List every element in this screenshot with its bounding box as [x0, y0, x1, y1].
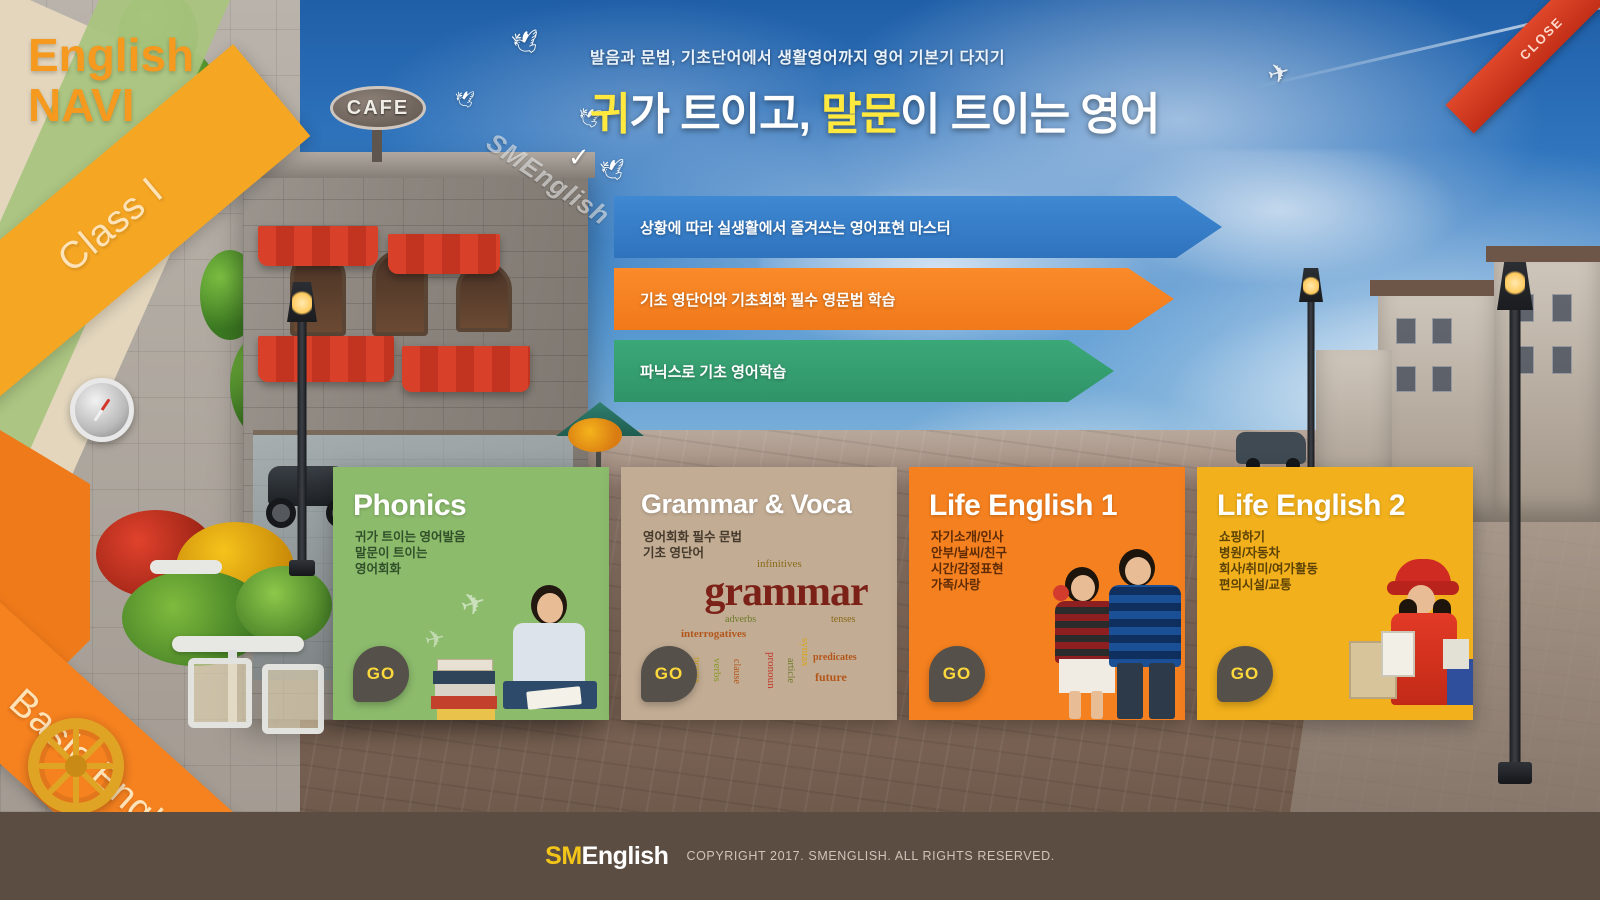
compass-icon [70, 378, 134, 442]
cafe-awning [402, 346, 530, 392]
page-title: 귀가 트이고, 말문이 트이는 영어 [590, 78, 1159, 142]
course-card-list: Phonics 귀가 트이는 영어발음 말문이 트이는 영어회화 ✈ ✈ GO [333, 467, 1473, 720]
lamp-base [1498, 762, 1532, 784]
street-lamp [282, 282, 322, 582]
cafe-awning [258, 226, 378, 266]
course-card-life-english-2-go-button[interactable]: GO [1217, 646, 1273, 702]
person-face [537, 593, 563, 623]
arrow-banner-2[interactable]: 기초 영단어와 기초회화 필수 영문법 학습 [614, 268, 1174, 330]
book-stack [431, 696, 497, 709]
street-lamp [1492, 262, 1538, 792]
course-card-phonics-title: Phonics [353, 489, 466, 523]
course-card-grammar[interactable]: Grammar & Voca 영어회화 필수 문법 기초 영단어 infinit… [621, 467, 897, 720]
go-label: GO [367, 664, 395, 684]
shopper-illustration [1347, 559, 1473, 720]
arrow-banner-3-label: 파닉스로 기초 영어학습 [614, 361, 786, 382]
arrow-banner-3[interactable]: 파닉스로 기초 영어학습 [614, 340, 1114, 402]
word-cloud-right-top: tenses [831, 615, 855, 625]
brand-line-2: NAVI [28, 80, 194, 130]
course-card-phonics-go-button[interactable]: GO [353, 646, 409, 702]
cafe-awning [388, 234, 500, 274]
person-striped-top [1109, 585, 1181, 667]
ribbon-class-1-label: Class I [50, 169, 172, 281]
course-card-life-english-1-title: Life English 1 [929, 489, 1117, 523]
patio-table [172, 636, 304, 652]
lamp-pole [1308, 302, 1315, 486]
course-card-life-english-2-title: Life English 2 [1217, 489, 1405, 523]
course-card-life-english-2-desc: 쇼핑하기 병원/자동차 회사/취미/여가활동 편의시설/교통 [1219, 529, 1318, 593]
building-window [1432, 366, 1452, 392]
course-card-life-english-2[interactable]: Life English 2 쇼핑하기 병원/자동차 회사/취미/여가활동 편의… [1197, 467, 1473, 720]
lamp-glow [292, 290, 312, 316]
title-highlight-2: 말문 [821, 90, 900, 139]
cafe-sign-post [372, 128, 382, 162]
person-striped-top [1055, 601, 1117, 663]
title-part-2: 가 트이고, [629, 90, 821, 139]
arrow-banner-1[interactable]: 상황에 따라 실생활에서 즐겨쓰는 영어표현 마스터 [614, 196, 1222, 258]
lamp-glow [1505, 270, 1525, 296]
lamp-glow [1303, 276, 1319, 296]
word-cloud-left: interrogatives [681, 629, 746, 640]
grammar-word-cloud: infinitives grammar adverbs interrogativ… [673, 559, 897, 699]
lamp-base [289, 560, 315, 576]
building-window [1552, 294, 1572, 322]
ship-wheel-icon [28, 718, 124, 814]
shopping-bag [1381, 631, 1415, 677]
person-shirt [513, 623, 585, 685]
book-stack [437, 709, 495, 720]
brand-line-1: English [28, 30, 194, 80]
background-building-roof [1370, 280, 1504, 296]
word-cloud-mid: adverbs [725, 615, 756, 625]
student-illustration [485, 585, 609, 720]
course-card-life-english-1[interactable]: Life English 1 자기소개/인사 안부/날씨/친구 시간/감정표현 … [909, 467, 1185, 720]
book-stack [435, 684, 495, 696]
course-card-grammar-desc: 영어회화 필수 문법 기초 영단어 [643, 529, 742, 561]
go-label: GO [1231, 664, 1259, 684]
arrow-banner-1-label: 상황에 따라 실생활에서 즐겨쓰는 영어표현 마스터 [614, 217, 951, 238]
book-stack [433, 671, 495, 684]
person-face [1125, 557, 1151, 585]
check-icon: ✓ [568, 142, 590, 173]
footer-logo-sm: SM [545, 842, 582, 870]
bird-icon: 🕊 [599, 157, 627, 185]
page-footer: SMEnglish COPYRIGHT 2017. SMENGLISH. ALL… [0, 812, 1600, 900]
word-cloud-column: pronoun [765, 643, 776, 697]
course-card-grammar-title: Grammar & Voca [641, 489, 851, 520]
cafe-sign: CAFE [330, 86, 426, 130]
lamp-pole [298, 322, 307, 562]
title-highlight-1: 귀 [590, 90, 629, 139]
building-window [1432, 318, 1452, 344]
go-label: GO [655, 664, 683, 684]
arrow-banner-2-label: 기초 영단어와 기초회화 필수 영문법 학습 [614, 289, 895, 310]
go-label: GO [943, 664, 971, 684]
person-skirt [1059, 659, 1115, 693]
course-card-grammar-go-button[interactable]: GO [641, 646, 697, 702]
footer-logo: SMEnglish [545, 842, 668, 871]
word-cloud-column: article [785, 645, 795, 695]
patio-bench [150, 560, 222, 574]
arrow-banner-list: 상황에 따라 실생활에서 즐겨쓰는 영어표현 마스터 기초 영단어와 기초회화 … [614, 196, 1222, 412]
lamp-pole [1510, 310, 1521, 764]
book-stack [437, 659, 493, 671]
building-window [1396, 366, 1416, 392]
person-leg [1149, 663, 1175, 719]
word-cloud-main: grammar [673, 571, 897, 613]
footer-logo-rest: English [582, 842, 669, 870]
person-leg [1117, 663, 1143, 719]
word-cloud-right-bottom: predicates [813, 653, 857, 663]
person-leg [1091, 691, 1103, 719]
word-cloud-column: syntax [799, 629, 810, 675]
page-header: 발음과 문법, 기초단어에서 생활영어까지 영어 기본기 다지기 귀가 트이고,… [590, 44, 1159, 142]
bird-icon: 🕊 [510, 28, 542, 58]
course-card-life-english-1-go-button[interactable]: GO [929, 646, 985, 702]
page-root: ✈ 🕊 🕊 🕊 🕊 CAFE SMEnglish [0, 0, 1600, 900]
cafe-awning [258, 336, 394, 382]
patio-chair [262, 664, 324, 734]
footer-copyright: COPYRIGHT 2017. SMENGLISH. ALL RIGHTS RE… [686, 849, 1054, 863]
word-cloud-bottom: future [815, 671, 847, 683]
course-card-phonics[interactable]: Phonics 귀가 트이는 영어발음 말문이 트이는 영어회화 ✈ ✈ GO [333, 467, 609, 720]
patio-chair [188, 658, 252, 728]
person-face [1071, 575, 1095, 601]
word-cloud-column: verbs [711, 643, 722, 697]
wheel-hub [65, 755, 87, 777]
building-window [1396, 318, 1416, 344]
building-window [1552, 346, 1572, 374]
word-cloud-column: clause [731, 647, 741, 695]
flower-planter [568, 418, 622, 452]
shopping-bag [1443, 639, 1469, 669]
course-card-life-english-1-desc: 자기소개/인사 안부/날씨/친구 시간/감정표현 가족/사랑 [931, 529, 1007, 593]
street-lamp [1295, 268, 1327, 498]
couple-illustration [1055, 545, 1185, 720]
background-building-roof [1486, 246, 1600, 262]
brand-logo: English NAVI [28, 30, 194, 130]
paper-plane-icon: ✈ [422, 623, 449, 656]
bird-icon: 🕊 [455, 90, 475, 110]
person-leg [1069, 691, 1081, 719]
title-part-4: 이 트이는 영어 [900, 90, 1159, 139]
held-object [1053, 585, 1069, 601]
header-subtitle: 발음과 문법, 기초단어에서 생활영어까지 영어 기본기 다지기 [590, 44, 1159, 68]
course-card-phonics-desc: 귀가 트이는 영어발음 말문이 트이는 영어회화 [355, 529, 465, 577]
